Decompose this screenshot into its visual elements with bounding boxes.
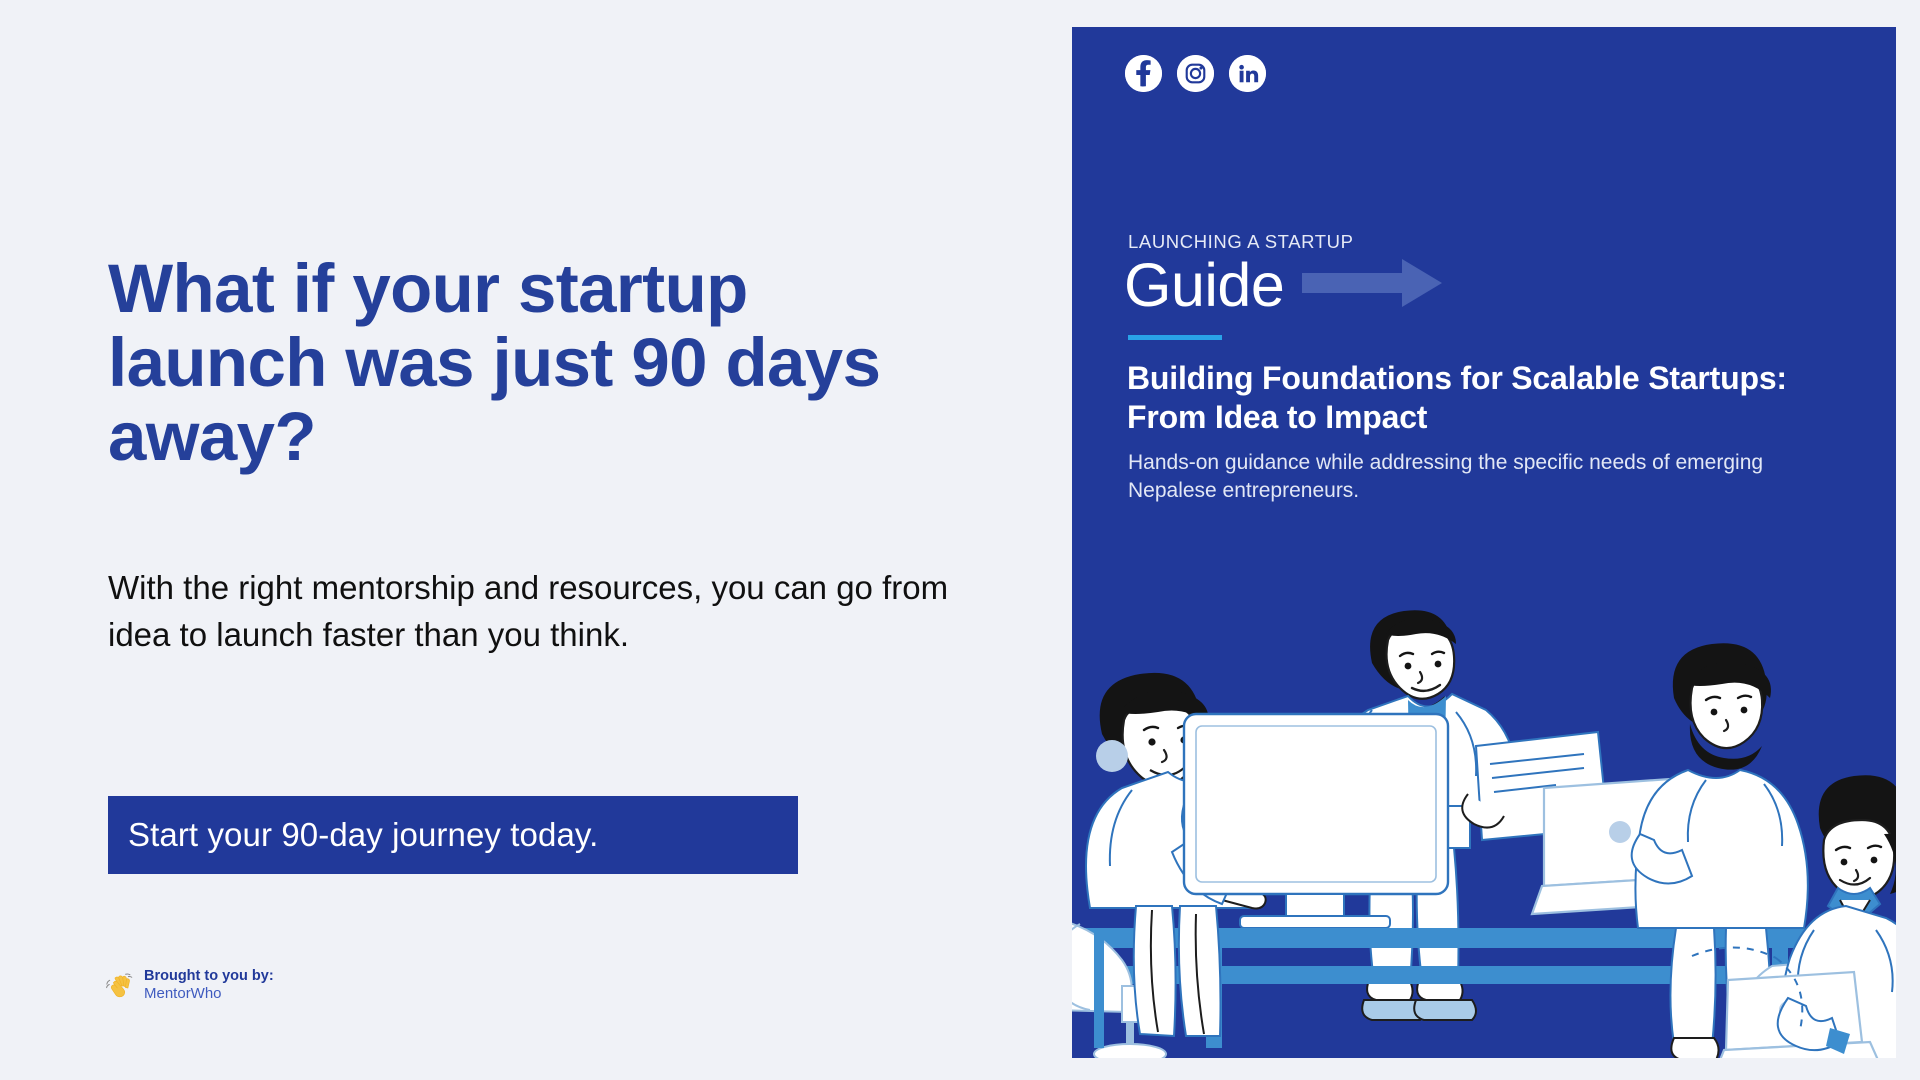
start-journey-button-label: Start your 90-day journey today. bbox=[108, 816, 598, 854]
right-arrow-icon bbox=[1302, 257, 1442, 314]
left-content-pane: What if your startup launch was just 90 … bbox=[0, 0, 1072, 1080]
brought-to-you-by-left: Brought to you by: MentorWho bbox=[105, 968, 274, 1003]
waving-hand-icon bbox=[105, 970, 135, 1000]
social-links-row bbox=[1125, 55, 1266, 92]
facebook-icon[interactable] bbox=[1125, 55, 1162, 92]
guide-word: Guide bbox=[1124, 255, 1284, 316]
team-working-at-desk-illustration bbox=[1072, 488, 1896, 1058]
promo-canvas: What if your startup launch was just 90 … bbox=[0, 0, 1920, 1080]
subheadline-text: With the right mentorship and resources,… bbox=[108, 565, 988, 659]
page-title: What if your startup launch was just 90 … bbox=[108, 252, 978, 473]
instagram-icon[interactable] bbox=[1177, 55, 1214, 92]
guide-accent-rule bbox=[1128, 335, 1222, 340]
brought-by-label: Brought to you by: bbox=[144, 968, 274, 985]
guide-title: Building Foundations for Scalable Startu… bbox=[1127, 359, 1847, 437]
guide-heading-row: Guide bbox=[1124, 255, 1442, 316]
brand-name-label: MentorWho bbox=[144, 985, 274, 1003]
start-journey-button[interactable]: Start your 90-day journey today. bbox=[108, 796, 798, 874]
brand-text-block: Brought to you by: MentorWho bbox=[144, 968, 274, 1003]
panel-eyebrow: LAUNCHING A STARTUP bbox=[1128, 231, 1354, 253]
linkedin-icon[interactable] bbox=[1229, 55, 1266, 92]
guide-cover-panel: LAUNCHING A STARTUP Guide Building Found… bbox=[1072, 27, 1896, 1058]
